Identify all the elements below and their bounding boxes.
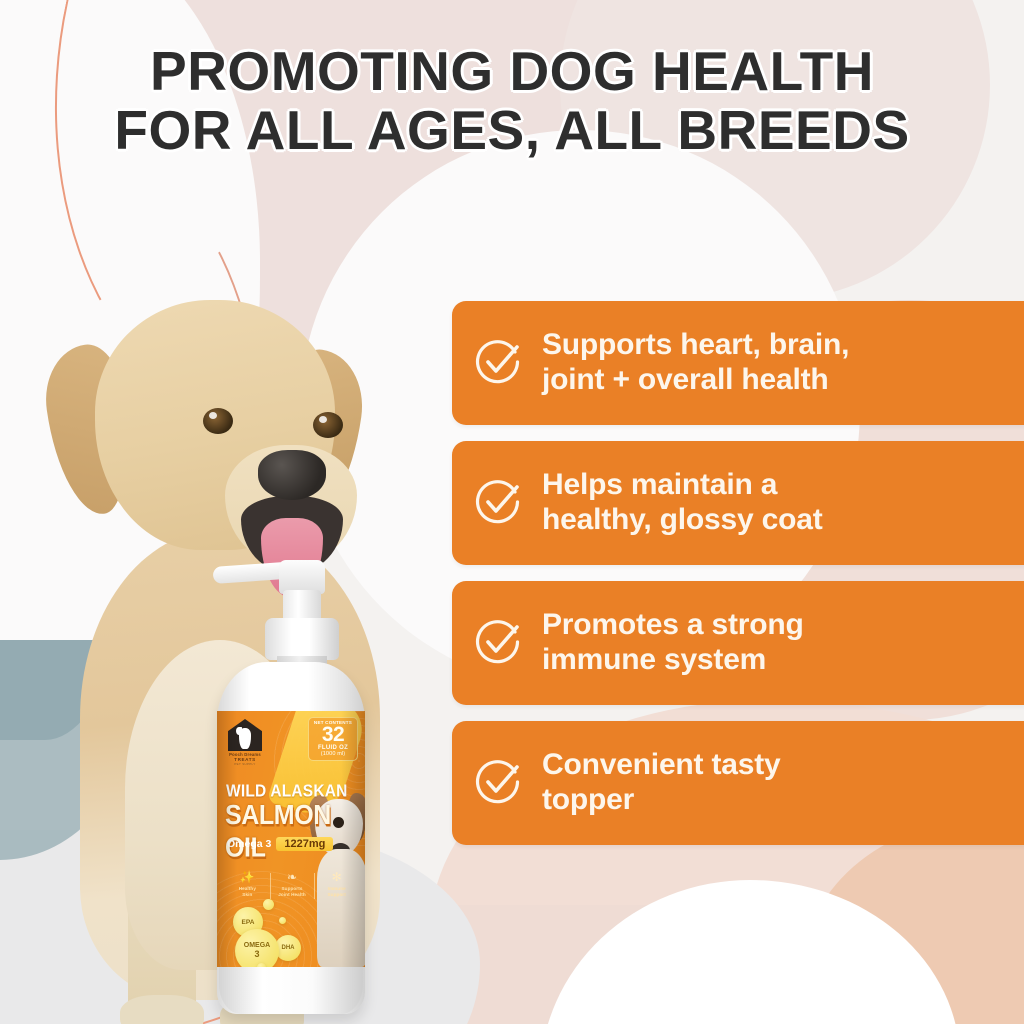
headline: PROMOTING DOG HEALTH FOR ALL AGES, ALL B…	[0, 42, 1024, 161]
bubble-decor-2	[257, 963, 266, 967]
check-circle-icon	[474, 619, 522, 667]
bubble-omega: OMEGA 3	[235, 929, 279, 967]
benefit-text: Helps maintain a healthy, glossy coat	[542, 468, 823, 538]
omega-row: Omega 3 1227mg	[227, 837, 357, 851]
benefit-item[interactable]: Convenient tasty topper	[452, 721, 1024, 845]
label-shadow-left	[217, 711, 237, 967]
benefit-text: Supports heart, brain, joint + overall h…	[542, 328, 849, 398]
pump-collar	[265, 618, 339, 660]
benefit-text: Convenient tasty topper	[542, 748, 781, 818]
benefits-list: Supports heart, brain, joint + overall h…	[452, 301, 1024, 861]
logo-dog-silhouette	[239, 728, 251, 749]
label-shadow-right	[341, 711, 365, 967]
joint-health-icon: ❧	[270, 871, 315, 883]
dog-eye-left	[203, 408, 233, 434]
benefit-item[interactable]: Supports heart, brain, joint + overall h…	[452, 301, 1024, 425]
check-circle-icon	[474, 339, 522, 387]
feature-label: Supports Joint Health	[270, 886, 315, 897]
check-circle-icon	[474, 479, 522, 527]
check-circle-icon	[474, 759, 522, 807]
dog-nose	[258, 450, 326, 500]
label-feature-row: ✨ Healthy Skin ❧ Supports Joint Health ✻…	[225, 871, 359, 897]
dog-paw-left	[120, 995, 204, 1024]
benefit-text: Promotes a strong immune system	[542, 608, 804, 678]
product-label: ✳ Pooch Dreams TREATS PET SUPPLY NET CON…	[217, 711, 365, 967]
product-bottle: ✳ Pooch Dreams TREATS PET SUPPLY NET CON…	[205, 556, 375, 1018]
benefit-item[interactable]: Promotes a strong immune system	[452, 581, 1024, 705]
bubble-decor-1	[263, 899, 274, 910]
dog-head	[95, 300, 335, 550]
benefit-item[interactable]: Helps maintain a healthy, glossy coat	[452, 441, 1024, 565]
feature-joint-health: ❧ Supports Joint Health	[270, 871, 315, 897]
bubble-decor-3	[279, 917, 286, 924]
dog-eye-right	[313, 412, 343, 438]
marketing-banner: PROMOTING DOG HEALTH FOR ALL AGES, ALL B…	[0, 0, 1024, 1024]
bubble-omega-number: 3	[254, 950, 259, 960]
omega-amount: 1227mg	[276, 837, 333, 851]
pump-head	[279, 560, 325, 594]
